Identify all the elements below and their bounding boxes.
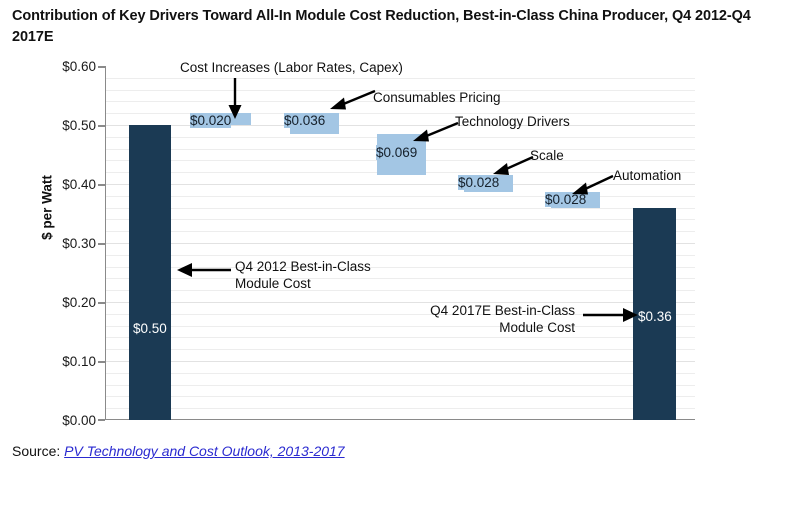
gridline-minor (106, 78, 695, 79)
gridline-minor (106, 255, 695, 256)
bar-value-consumables: $0.036 (284, 113, 325, 128)
source-line: Source: PV Technology and Cost Outlook, … (12, 443, 345, 459)
y-axis-tick-label: $0.30 (18, 236, 96, 251)
gridline-major (106, 243, 695, 244)
gridline-minor (106, 373, 695, 374)
gridline-minor (106, 385, 695, 386)
y-axis-tick-label: $0.50 (18, 118, 96, 133)
source-prefix: Source: (12, 443, 60, 459)
annotation-cost-increases: Cost Increases (Labor Rates, Capex) (180, 60, 403, 76)
gridline-minor (106, 231, 695, 232)
bar-value-q4-2012: $0.50 (133, 321, 167, 336)
plot-area: $0.50 $0.020 $0.036 $0.069 $0.028 $0.028… (105, 66, 695, 420)
y-axis-title: $ per Watt (40, 143, 55, 273)
y-axis-tick-mark (98, 66, 105, 68)
gridline-minor (106, 396, 695, 397)
gridline-minor (106, 408, 695, 409)
gridline-minor (106, 349, 695, 350)
y-axis-tick-mark (98, 361, 105, 363)
bar-value-q4-2017e: $0.36 (638, 309, 672, 324)
y-axis-tick-label: $0.20 (18, 295, 96, 310)
gridline-minor (106, 337, 695, 338)
gridline-minor (106, 219, 695, 220)
gridline-minor (106, 290, 695, 291)
y-axis-tick-label: $0.40 (18, 177, 96, 192)
x-axis-baseline (106, 419, 695, 421)
gridline-major (106, 361, 695, 362)
arrow-scale (489, 154, 535, 179)
annotation-scale: Scale (530, 148, 564, 164)
y-axis-tick-mark (98, 184, 105, 186)
callout-q4-2012-line2: Module Cost (235, 276, 311, 292)
y-axis-tick-mark (98, 419, 105, 421)
y-axis-tick-label: $0.60 (18, 59, 96, 74)
y-axis-tick-label: $0.00 (18, 413, 96, 428)
annotation-consumables-pricing: Consumables Pricing (373, 90, 501, 106)
bar-q4-2012-total[interactable] (129, 125, 171, 420)
bar-value-technology: $0.069 (376, 145, 417, 160)
annotation-automation: Automation (613, 168, 681, 184)
arrow-consumables-pricing (325, 88, 377, 114)
arrow-callout-q4-2017e (583, 306, 639, 324)
y-axis-tick-mark (98, 243, 105, 245)
callout-q4-2017e-line1: Q4 2017E Best-in-Class (395, 303, 575, 319)
arrow-automation (567, 173, 615, 199)
annotation-technology-drivers: Technology Drivers (455, 114, 570, 130)
y-axis-tick-mark (98, 125, 105, 127)
arrow-callout-q4-2012 (176, 261, 232, 279)
y-axis-tick-label: $0.10 (18, 354, 96, 369)
y-axis-tick-mark (98, 302, 105, 304)
arrow-technology-drivers (408, 120, 460, 146)
source-link[interactable]: PV Technology and Cost Outlook, 2013-201… (64, 443, 344, 459)
callout-q4-2012-line1: Q4 2012 Best-in-Class (235, 259, 371, 275)
callout-q4-2017e-line2: Module Cost (395, 320, 575, 336)
page-title: Contribution of Key Drivers Toward All-I… (12, 6, 752, 48)
gridline-minor (106, 208, 695, 209)
arrow-cost-increases (222, 78, 248, 120)
chart-page: Contribution of Key Drivers Toward All-I… (0, 0, 786, 517)
